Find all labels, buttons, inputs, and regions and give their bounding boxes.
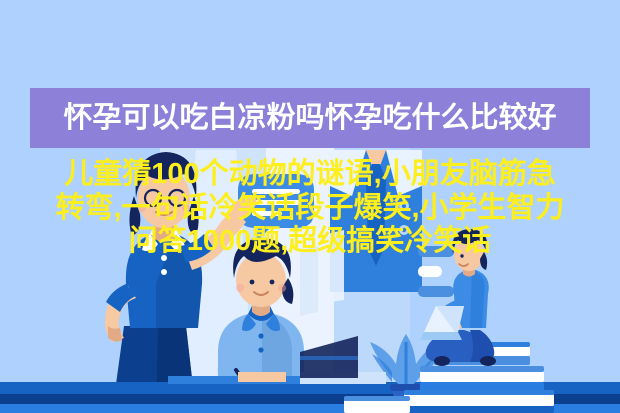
title-banner-text: 怀孕可以吃白凉粉吗怀孕吃什么比较好 [63,104,556,133]
caption-overlay: 儿童猜100个动物的谜语,小朋友脑筋急 转弯,一句话冷笑话段子爆笑,小学生智力 … [0,158,620,259]
deco-bar-3 [418,286,454,297]
title-banner: 怀孕可以吃白凉粉吗怀孕吃什么比较好 [30,88,590,148]
promo-image-canvas: 怀孕可以吃白凉粉吗怀孕吃什么比较好 儿童猜100个动物的谜语,小朋友脑筋急 转弯… [0,0,620,413]
deco-bar-2 [418,266,442,277]
